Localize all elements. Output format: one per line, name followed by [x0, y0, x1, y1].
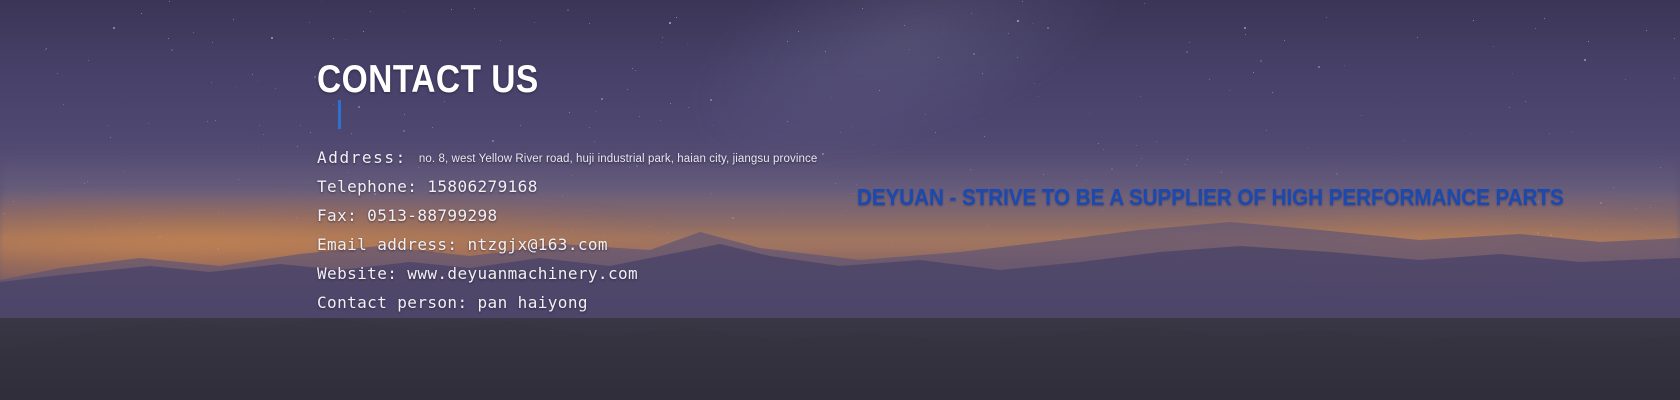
- company-tagline: DEYUAN - STRIVE TO BE A SUPPLIER OF HIGH…: [857, 183, 1564, 211]
- address-label: Address:: [317, 148, 407, 167]
- contact-row-telephone: Telephone: 15806279168: [317, 172, 817, 201]
- banner-content: CONTACT US Address:no. 8, west Yellow Ri…: [0, 0, 1680, 400]
- contact-row-website[interactable]: Website: www.deyuanmachinery.com: [317, 259, 817, 288]
- contact-row-address: Address:no. 8, west Yellow River road, h…: [317, 143, 817, 172]
- contact-details-list: Address:no. 8, west Yellow River road, h…: [317, 143, 817, 317]
- contact-banner: CONTACT US Address:no. 8, west Yellow Ri…: [0, 0, 1680, 400]
- heading-accent-bar: [338, 100, 341, 129]
- page-title: CONTACT US: [317, 58, 539, 102]
- contact-row-email[interactable]: Email address: ntzgjx@163.com: [317, 230, 817, 259]
- address-value: no. 8, west Yellow River road, huji indu…: [407, 153, 817, 165]
- contact-row-contact-person: Contact person: pan haiyong: [317, 288, 817, 317]
- contact-row-fax: Fax: 0513-88799298: [317, 201, 817, 230]
